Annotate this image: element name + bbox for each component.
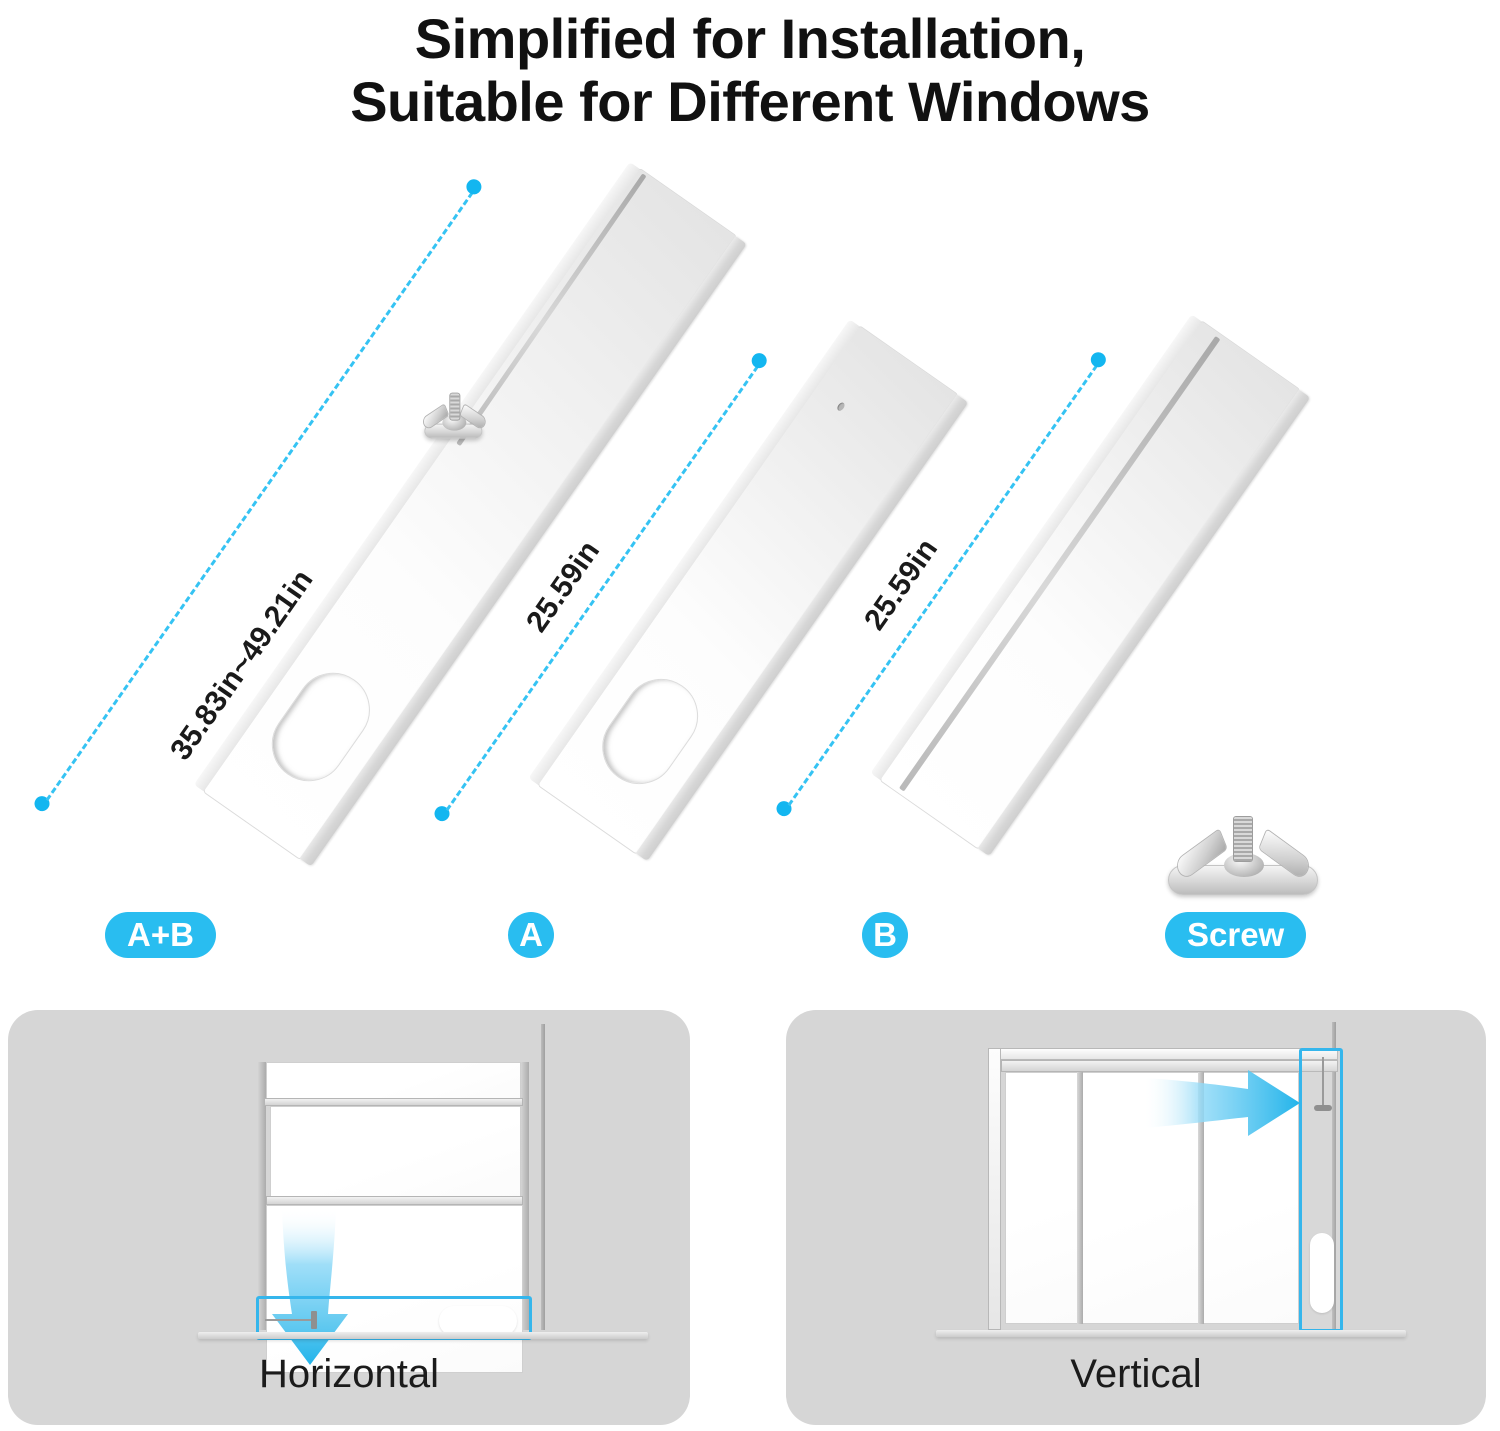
screw-bolt: [450, 394, 459, 420]
arrow-right-icon: [1144, 1068, 1304, 1138]
infographic-root: Simplified for Installation, Suitable fo…: [0, 0, 1500, 1431]
window-middle-glass: [270, 1106, 521, 1200]
badge-a: A: [508, 912, 554, 958]
part-badge-row: A+B A B Screw: [0, 900, 1500, 970]
screw-hole-icon: [836, 401, 846, 412]
badge-ab: A+B: [105, 912, 216, 958]
screw-rod: [1322, 1057, 1324, 1107]
horizontal-scene: [8, 1010, 690, 1340]
door-sill: [936, 1330, 1406, 1337]
screw-rod: [265, 1319, 313, 1321]
title-line-1: Simplified for Installation,: [0, 8, 1500, 71]
door-stile-1: [1077, 1072, 1083, 1324]
measure-endpoint-dot-icon: [1088, 349, 1109, 370]
caption-vertical: Vertical: [786, 1352, 1486, 1397]
wing-screw-icon: [420, 391, 490, 439]
wall-edge: [541, 1024, 545, 1330]
measure-label-a: 25.59in: [520, 535, 607, 639]
door-frame-left: [988, 1048, 1001, 1330]
vertical-scene: [786, 1010, 1486, 1340]
title-line-2: Suitable for Different Windows: [0, 71, 1500, 134]
measure-endpoint-dot-icon: [463, 176, 484, 197]
oval-vent-icon: [1310, 1233, 1334, 1313]
installed-panel-vertical: [1299, 1048, 1343, 1332]
door-glass-1: [1005, 1072, 1079, 1324]
measure-endpoint-dot-icon: [749, 350, 770, 371]
badge-screw: Screw: [1165, 912, 1306, 958]
window-upper-rail: [264, 1098, 523, 1106]
door-frame-head: [988, 1048, 1338, 1060]
wing-screw-icon: [1314, 1105, 1332, 1111]
parts-stage: 35.83in~49.21in 25.59in: [0, 150, 1500, 990]
page-title: Simplified for Installation, Suitable fo…: [0, 8, 1500, 133]
wing-screw-icon: [311, 1311, 317, 1329]
window-sill: [198, 1332, 648, 1339]
caption-horizontal: Horizontal: [8, 1352, 690, 1397]
window-meeting-rail: [266, 1196, 523, 1205]
install-card-vertical: Vertical: [786, 1010, 1486, 1425]
measure-label-b: 25.59in: [858, 533, 945, 637]
part-wing-screw: [1168, 815, 1318, 895]
badge-b: B: [862, 912, 908, 958]
arrow-down-icon: [270, 1210, 350, 1370]
install-card-horizontal: Horizontal: [8, 1010, 690, 1425]
window-upper-glass: [266, 1062, 521, 1102]
screw-bolt: [1234, 817, 1252, 861]
